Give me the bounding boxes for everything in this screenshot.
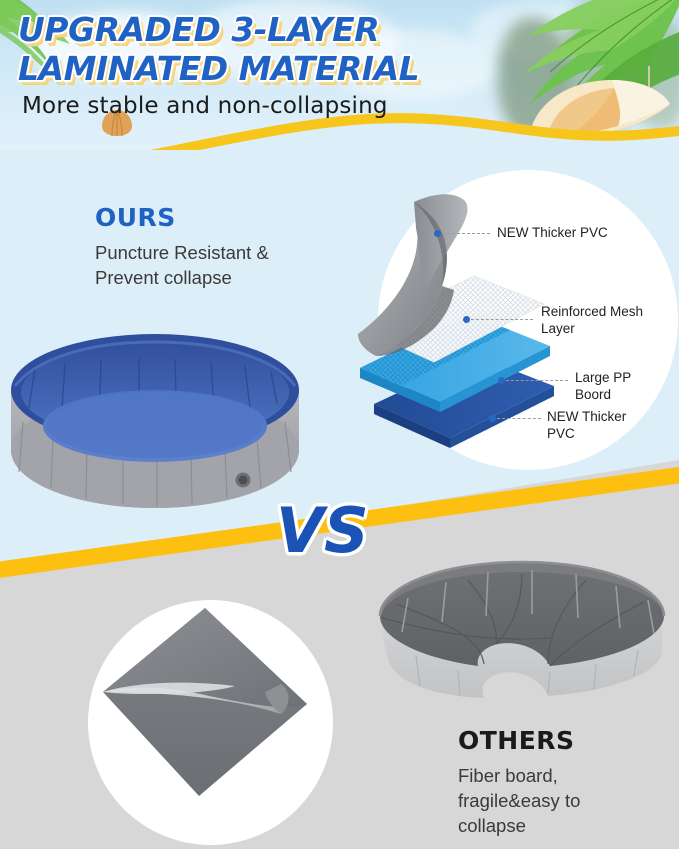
layer-label-top-pvc: NEW Thicker PVC [497,225,617,242]
title-line-2: LAMINATED MATERIAL [18,49,488,88]
ours-description: Puncture Resistant & Prevent collapse [95,240,295,290]
header-title: UPGRADED 3-LAYER LAMINATED MATERIAL [18,10,488,88]
ours-pool-illustration [5,330,305,520]
title-line-1: UPGRADED 3-LAYER [18,10,488,49]
infographic-page: UPGRADED 3-LAYER LAMINATED MATERIAL More… [0,0,679,849]
single-layer-sheet-illustration [95,600,335,840]
header-subtitle: More stable and non-collapsing [22,93,388,119]
leader-dot-pp-board [498,377,505,384]
vs-badge: VS [276,500,369,562]
others-heading: OTHERS [458,726,575,755]
layer-label-pp-board: Large PP Boord [575,370,670,403]
layer-label-bottom-pvc: NEW Thicker PVC [547,409,627,442]
leader-dot-top-pvc [434,230,441,237]
layer-label-mesh: Reinforced Mesh Layer [541,304,651,337]
leader-line-bottom-pvc [497,418,541,419]
leader-line-top-pvc [442,233,490,234]
others-pool-illustration [372,540,672,730]
leader-line-pp-board [506,380,568,381]
leader-line-mesh [471,319,533,320]
ours-heading: OURS [95,203,176,232]
leader-dot-mesh [463,316,470,323]
leader-dot-bottom-pvc [489,415,496,422]
others-description: Fiber board, fragile&easy to collapse [458,763,648,838]
